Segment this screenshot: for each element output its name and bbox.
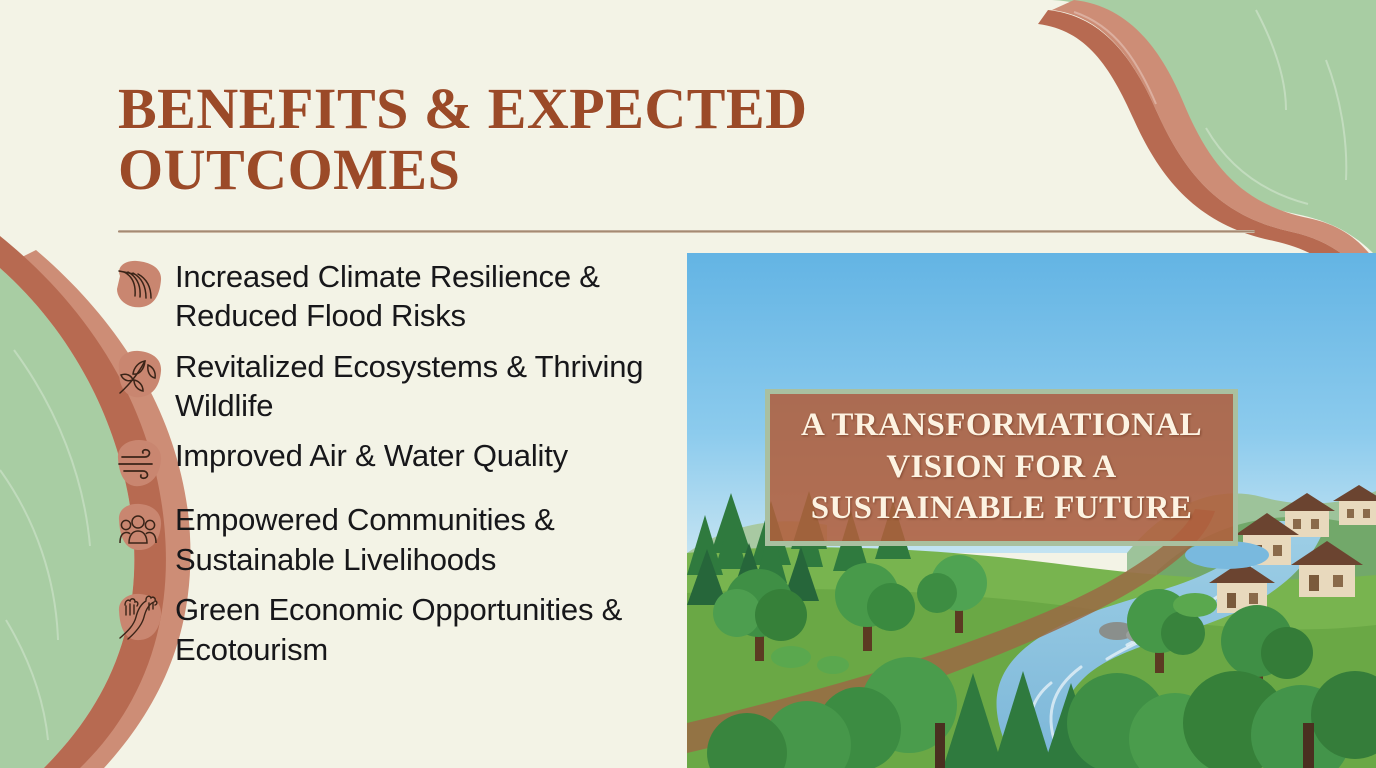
list-item-label: Improved Air & Water Quality bbox=[175, 435, 568, 475]
deco-highlight-lines bbox=[1074, 10, 1346, 204]
list-item: Revitalized Ecosystems & Thriving Wildli… bbox=[112, 346, 682, 426]
vision-banner-text: A TRANSFORMATIONAL VISION FOR A SUSTAINA… bbox=[791, 405, 1212, 530]
title-block: BENEFITS & EXPECTED OUTCOMES bbox=[118, 78, 818, 201]
deco-rust-band bbox=[1038, 10, 1376, 290]
list-item-label: Revitalized Ecosystems & Thriving Wildli… bbox=[175, 346, 682, 426]
benefits-list: Increased Climate Resilience & Reduced F… bbox=[112, 256, 682, 679]
wind-air-icon bbox=[112, 437, 164, 489]
winding-path-icon bbox=[112, 591, 164, 643]
vision-banner: A TRANSFORMATIONAL VISION FOR A SUSTAINA… bbox=[765, 389, 1238, 546]
list-item: Empowered Communities & Sustainable Live… bbox=[112, 499, 682, 579]
list-item-label: Empowered Communities & Sustainable Live… bbox=[175, 499, 682, 579]
deco-salmon-band bbox=[1052, 0, 1376, 290]
page-title: BENEFITS & EXPECTED OUTCOMES bbox=[118, 78, 818, 201]
river-flow-icon bbox=[112, 258, 164, 310]
list-item: Green Economic Opportunities & Ecotouris… bbox=[112, 589, 682, 669]
title-divider bbox=[118, 230, 1255, 233]
list-item-label: Increased Climate Resilience & Reduced F… bbox=[175, 256, 682, 336]
list-item-label: Green Economic Opportunities & Ecotouris… bbox=[175, 589, 682, 669]
list-item: Increased Climate Resilience & Reduced F… bbox=[112, 256, 682, 336]
slide-canvas: BENEFITS & EXPECTED OUTCOMES Increased C… bbox=[0, 0, 1376, 768]
decorative-wave-top-right bbox=[956, 0, 1376, 290]
people-group-icon bbox=[112, 501, 164, 553]
list-item: Improved Air & Water Quality bbox=[112, 435, 682, 489]
leaf-plant-icon bbox=[112, 348, 164, 400]
deco-green-band bbox=[1048, 0, 1376, 256]
deco-left-highlight-lines bbox=[0, 350, 90, 740]
